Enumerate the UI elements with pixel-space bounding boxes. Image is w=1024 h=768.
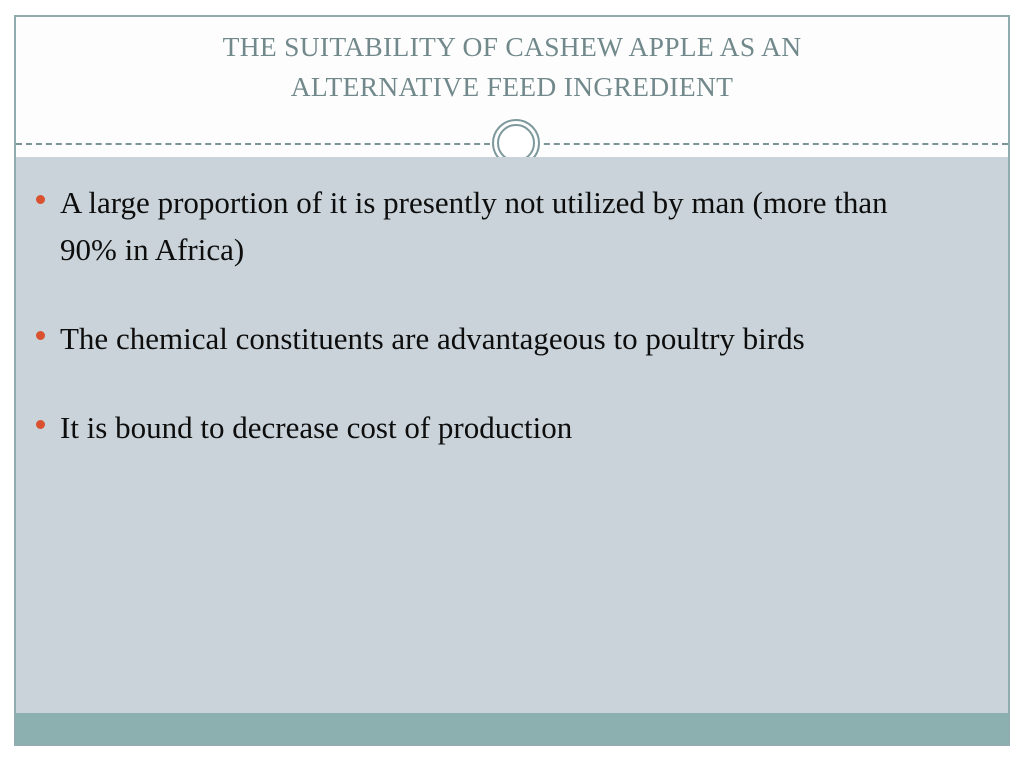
page-title: THE SUITABILITY OF CASHEW APPLE AS AN AL… [16,27,1008,107]
bullet-dot-icon [36,195,45,204]
bullet-text: It is bound to decrease cost of producti… [60,404,920,451]
slide-body: A large proportion of it is presently no… [16,157,1008,713]
list-item: It is bound to decrease cost of producti… [36,404,974,451]
bullet-text: A large proportion of it is presently no… [60,179,920,273]
bullet-dot-icon [36,420,45,429]
list-item: The chemical constituents are advantageo… [36,315,974,362]
list-item: A large proportion of it is presently no… [36,179,974,273]
bullet-dot-icon [36,331,45,340]
bullet-text: The chemical constituents are advantageo… [60,315,920,362]
footer-bar [16,713,1008,744]
slide: THE SUITABILITY OF CASHEW APPLE AS AN AL… [14,15,1010,746]
